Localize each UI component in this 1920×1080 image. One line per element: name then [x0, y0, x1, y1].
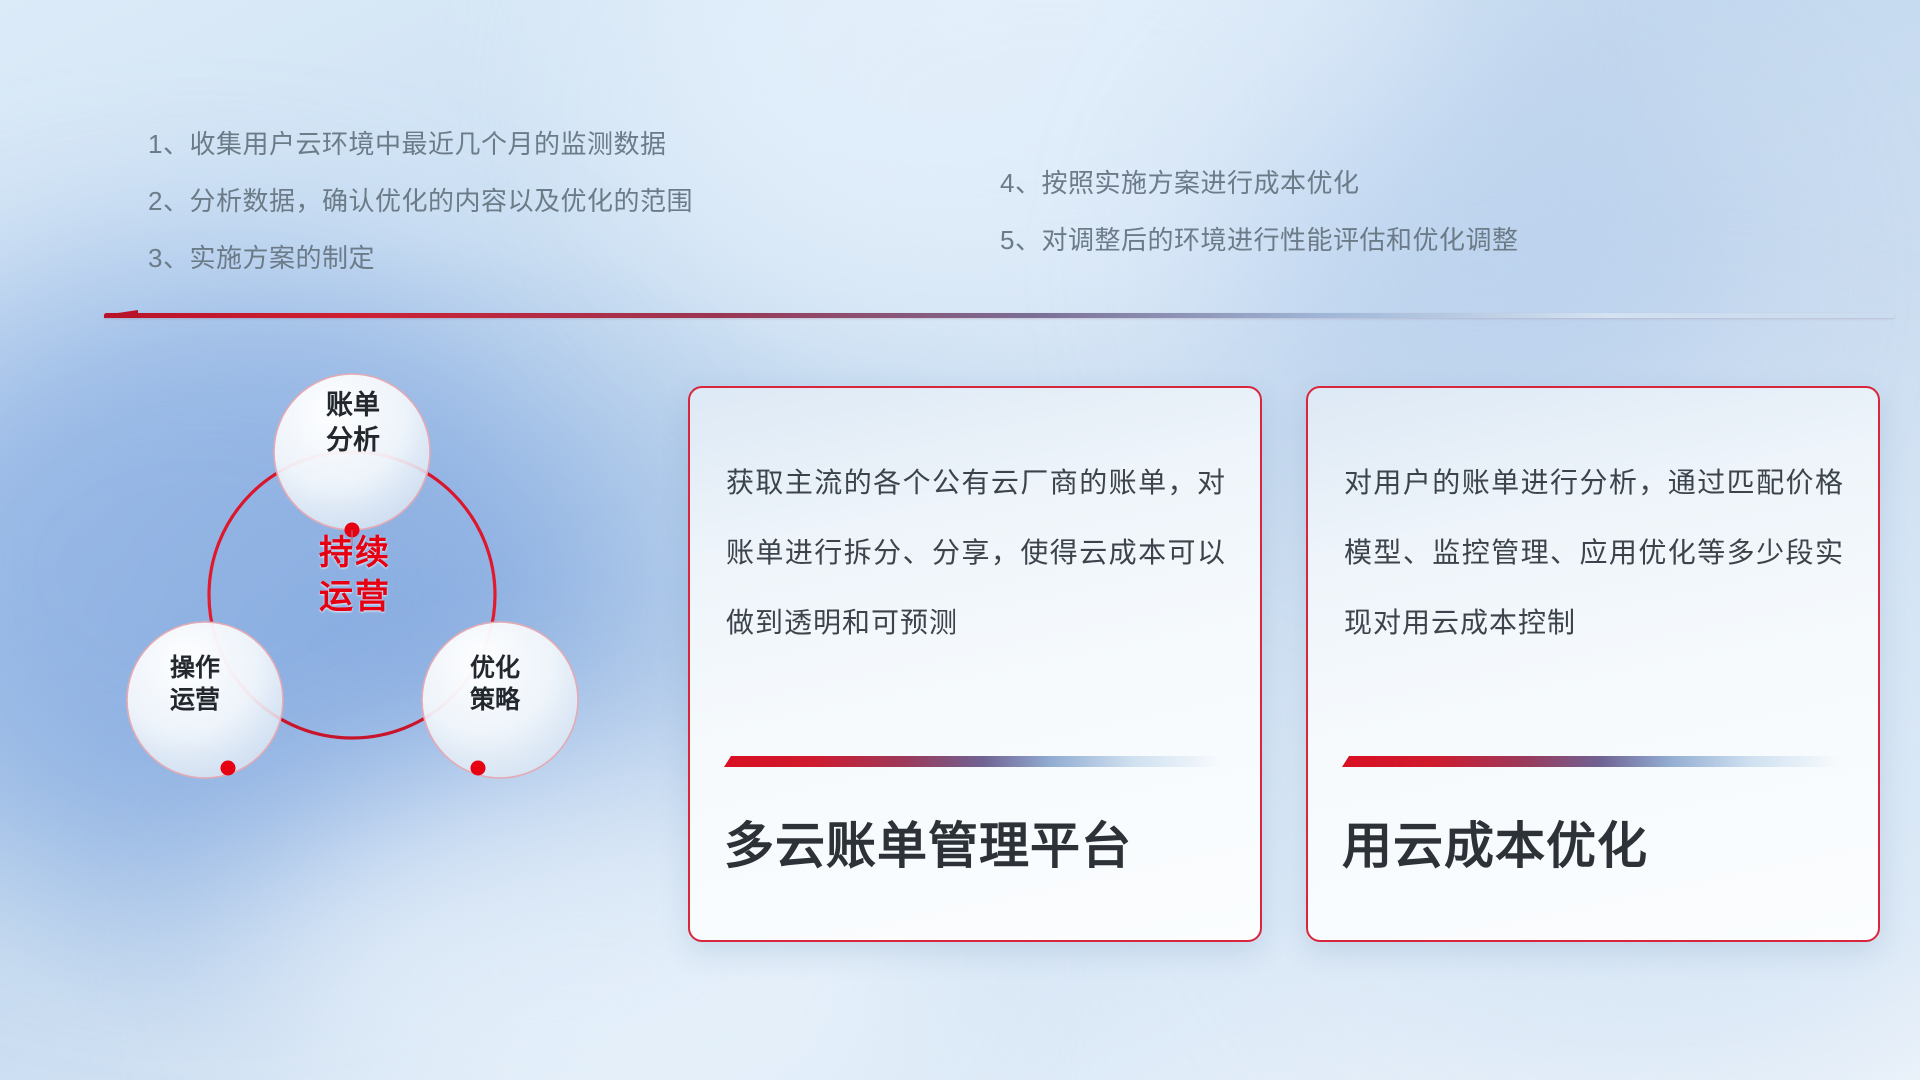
- card-title: 多云账单管理平台: [724, 806, 1230, 878]
- slide-canvas: 1、收集用户云环境中最近几个月的监测数据 2、分析数据，确认优化的内容以及优化的…: [0, 0, 1920, 1080]
- connector-dot-left: [221, 761, 236, 776]
- card-multi-cloud-billing-platform[interactable]: 获取主流的各个公有云厂商的账单，对账单进行拆分、分享，使得云成本可以做到透明和可…: [688, 386, 1262, 942]
- label-line-2: 分析: [288, 423, 418, 458]
- card-body-text: 对用户的账单进行分析，通过匹配价格模型、监控管理、应用优化等多少段实现对用云成本…: [1344, 448, 1844, 658]
- continuous-operation-diagram: 账单 分析 操作 运营 优化 策略 持续 运营: [100, 340, 620, 960]
- connector-dot-right: [471, 761, 486, 776]
- diagram-node-label-operations: 操作 运营: [130, 652, 260, 716]
- steps-right-column: 4、按照实施方案进行成本优化 5、对调整后的环境进行性能评估和优化调整: [1000, 155, 1518, 269]
- card-body-text: 获取主流的各个公有云厂商的账单，对账单进行拆分、分享，使得云成本可以做到透明和可…: [726, 448, 1226, 658]
- step-item-2: 2、分析数据，确认优化的内容以及优化的范围: [148, 173, 693, 230]
- step-item-1: 1、收集用户云环境中最近几个月的监测数据: [148, 116, 693, 173]
- diagram-node-label-optimization-strategy: 优化 策略: [430, 652, 560, 716]
- label-line-1: 账单: [288, 388, 418, 423]
- step-item-5: 5、对调整后的环境进行性能评估和优化调整: [1000, 212, 1518, 269]
- center-label-line-1: 持续: [270, 532, 440, 576]
- center-label-line-2: 运营: [270, 576, 440, 620]
- label-line-2: 运营: [130, 684, 260, 716]
- step-item-3: 3、实施方案的制定: [148, 230, 693, 287]
- card-divider: [724, 756, 1222, 767]
- card-title: 用云成本优化: [1342, 806, 1848, 878]
- label-line-1: 操作: [130, 652, 260, 684]
- step-item-4: 4、按照实施方案进行成本优化: [1000, 155, 1518, 212]
- label-line-2: 策略: [430, 684, 560, 716]
- diagram-node-label-billing-analysis: 账单 分析: [288, 388, 418, 457]
- section-divider-rule: [104, 313, 1894, 318]
- diagram-center-label: 持续 运营: [270, 532, 440, 619]
- card-cloud-cost-optimization[interactable]: 对用户的账单进行分析，通过匹配价格模型、监控管理、应用优化等多少段实现对用云成本…: [1306, 386, 1880, 942]
- steps-left-column: 1、收集用户云环境中最近几个月的监测数据 2、分析数据，确认优化的内容以及优化的…: [148, 116, 693, 287]
- card-divider: [1342, 756, 1840, 767]
- label-line-1: 优化: [430, 652, 560, 684]
